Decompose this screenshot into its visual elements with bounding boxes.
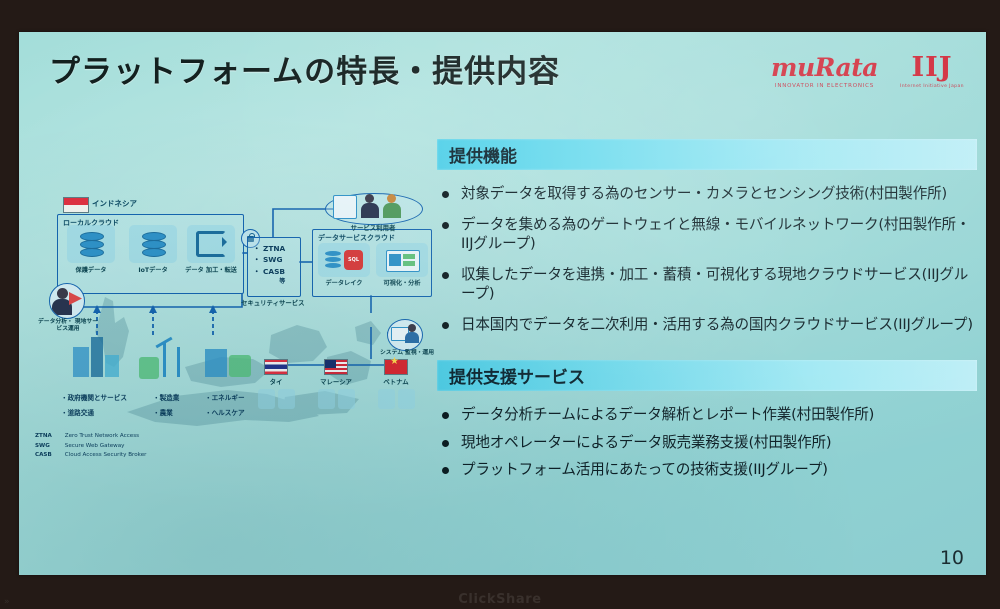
industry-icons — [57, 337, 257, 387]
country-label-indonesia: インドネシア — [92, 198, 137, 209]
server-icon — [378, 389, 395, 409]
datalake-sql-icon — [325, 251, 341, 269]
industry-road-traffic: ・道路交通 — [61, 407, 153, 417]
clickshare-watermark: ClickShare — [0, 592, 1000, 607]
corner-marker: » — [4, 597, 10, 607]
industry-row: ・政府機関とサービス ・製造業 ・エネルギー — [61, 392, 271, 402]
security-item-ztna: ・ ZTNA — [253, 243, 285, 254]
country-label-thailand: タイ — [247, 377, 305, 386]
indonesia-flag-icon — [63, 197, 89, 213]
country-thailand: タイ — [247, 359, 305, 409]
manufacturing-agriculture-icon — [137, 341, 189, 381]
section-heading-functions: 提供機能 — [437, 139, 977, 170]
chart-icon — [69, 292, 82, 305]
industry-government: ・政府機関とサービス — [61, 392, 153, 402]
list-item: 現地オペレーターによるデータ販売業務支援(村田製作所) — [437, 433, 977, 453]
dashboard-chart-icon — [386, 250, 420, 272]
security-item-casb: ・ CASB — [253, 266, 285, 277]
server-icon — [258, 389, 275, 409]
tile-iot-data — [129, 225, 177, 263]
list-item: プラットフォーム活用にあたっての技術支援(IIJグループ) — [437, 460, 977, 480]
page-title: プラットフォームの特長・提供内容 — [49, 46, 560, 91]
person-icon — [383, 194, 401, 218]
tile-label-protected-data: 保護データ — [61, 267, 121, 274]
person-icon — [408, 324, 416, 332]
server-icon — [398, 389, 415, 409]
list-item: データ分析チームによるデータ解析とレポート作業(村田製作所) — [437, 405, 977, 425]
industry-row: ・道路交通 ・農業 ・ヘルスケア — [61, 407, 271, 417]
analyst-label: データ分析・ 現地サービス運用 — [37, 319, 99, 333]
database-icon — [142, 232, 164, 256]
section-heading-support: 提供支援サービス — [437, 360, 977, 391]
analyst-avatar — [49, 283, 85, 319]
security-service-label: セキュリティサービス — [241, 298, 305, 307]
server-icon — [318, 389, 335, 409]
legend-abbr-ztna: ZTNA — [35, 432, 63, 442]
murata-logo-mark: muRata — [771, 55, 878, 80]
legend-full-casb: Cloud Access Security Broker — [65, 452, 147, 458]
industry-agriculture: ・農業 — [153, 407, 205, 417]
country-vietnam: ベトナム — [367, 359, 425, 409]
tile-data-lake: SQL — [318, 243, 370, 277]
content-column: 提供機能 対象データを取得する為のセンサー・カメラとセンシング技術(村田製作所)… — [437, 139, 977, 488]
expansion-countries: タイ マレーシア ベトナム — [247, 359, 437, 429]
malaysia-flag-icon — [324, 359, 348, 375]
iij-logo: IIJ Internet Initiative Japan — [900, 54, 964, 89]
service-users-label: サービス利用者 — [325, 223, 421, 232]
abbreviation-legend: ZTNA Zero Trust Network Access SWG Secur… — [35, 432, 146, 461]
list-item: データを集める為のゲートウェイと無線・モバイルネットワーク(村田製作所・IIJグ… — [437, 215, 977, 254]
legend-abbr-casb: CASB — [35, 451, 63, 461]
iij-logo-tagline: Internet Initiative Japan — [900, 84, 964, 89]
list-item: 対象データを取得する為のセンサー・カメラとセンシング技術(村田製作所) — [437, 184, 977, 204]
presentation-slide: プラットフォームの特長・提供内容 muRata INNOVATOR IN ELE… — [19, 32, 986, 575]
bullet-list-support: データ分析チームによるデータ解析とレポート作業(村田製作所) 現地オペレーターに… — [437, 405, 977, 480]
security-item-etc: 等 — [253, 277, 285, 286]
system-operator-label: システム 監視・運用 — [379, 350, 435, 357]
tile-visualize-analyze — [376, 243, 428, 277]
industry-energy: ・エネルギー — [205, 392, 245, 402]
process-loop-icon — [196, 231, 226, 257]
legend-full-swg: Secure Web Gateway — [65, 443, 125, 449]
bullet-list-functions: 対象データを取得する為のセンサー・カメラとセンシング技術(村田製作所) データを… — [437, 184, 977, 334]
government-services-icon — [69, 337, 121, 381]
country-label-vietnam: ベトナム — [367, 377, 425, 386]
tile-label-data-lake: データレイク — [314, 280, 374, 287]
tablet-icon — [333, 195, 357, 219]
data-service-cloud-title: データサービスクラウド — [318, 233, 395, 243]
service-users-group — [325, 189, 421, 225]
tile-label-visualize-analyze: 可視化・分析 — [372, 280, 432, 287]
person-icon — [361, 194, 379, 218]
system-operator-avatar — [387, 319, 423, 351]
murata-logo-tagline: INNOVATOR IN ELECTRONICS — [775, 83, 874, 89]
security-item-swg: ・ SWG — [253, 254, 285, 265]
database-icon — [80, 232, 102, 256]
server-icon — [338, 389, 355, 409]
legend-abbr-swg: SWG — [35, 442, 63, 452]
tile-label-data-processing: データ 加工・転送 — [181, 267, 241, 274]
tile-label-iot-data: IoTデータ — [123, 267, 183, 274]
iij-logo-mark: IIJ — [911, 54, 952, 81]
tile-protected-data — [67, 225, 115, 263]
country-malaysia: マレーシア — [307, 359, 365, 409]
thailand-flag-icon — [264, 359, 288, 375]
industry-manufacturing: ・製造業 — [153, 392, 205, 402]
list-item: 収集したデータを連携・加工・蓄積・可視化する現地クラウドサービス(IIJグループ… — [437, 265, 977, 304]
legend-row-ztna: ZTNA Zero Trust Network Access — [35, 432, 146, 442]
logo-group: muRata INNOVATOR IN ELECTRONICS IIJ Inte… — [771, 54, 964, 89]
tile-data-processing — [187, 225, 235, 263]
legend-full-ztna: Zero Trust Network Access — [65, 433, 139, 439]
industry-label-list: ・政府機関とサービス ・製造業 ・エネルギー ・道路交通 ・農業 ・ヘルスケア — [61, 392, 271, 422]
legend-row-casb: CASB Cloud Access Security Broker — [35, 451, 146, 461]
security-service-items: ・ ZTNA ・ SWG ・ CASB 等 — [253, 243, 285, 287]
legend-row-swg: SWG Secure Web Gateway — [35, 442, 146, 452]
industry-healthcare: ・ヘルスケア — [205, 407, 245, 417]
list-item: 日本国内でデータを二次利用・活用する為の国内クラウドサービス(IIJグループ) — [437, 315, 977, 335]
country-label-malaysia: マレーシア — [307, 377, 365, 386]
vietnam-flag-icon — [384, 359, 408, 375]
server-icon — [278, 389, 295, 409]
page-number: 10 — [940, 547, 964, 569]
person-icon — [57, 288, 68, 299]
murata-logo: muRata INNOVATOR IN ELECTRONICS — [771, 55, 878, 89]
